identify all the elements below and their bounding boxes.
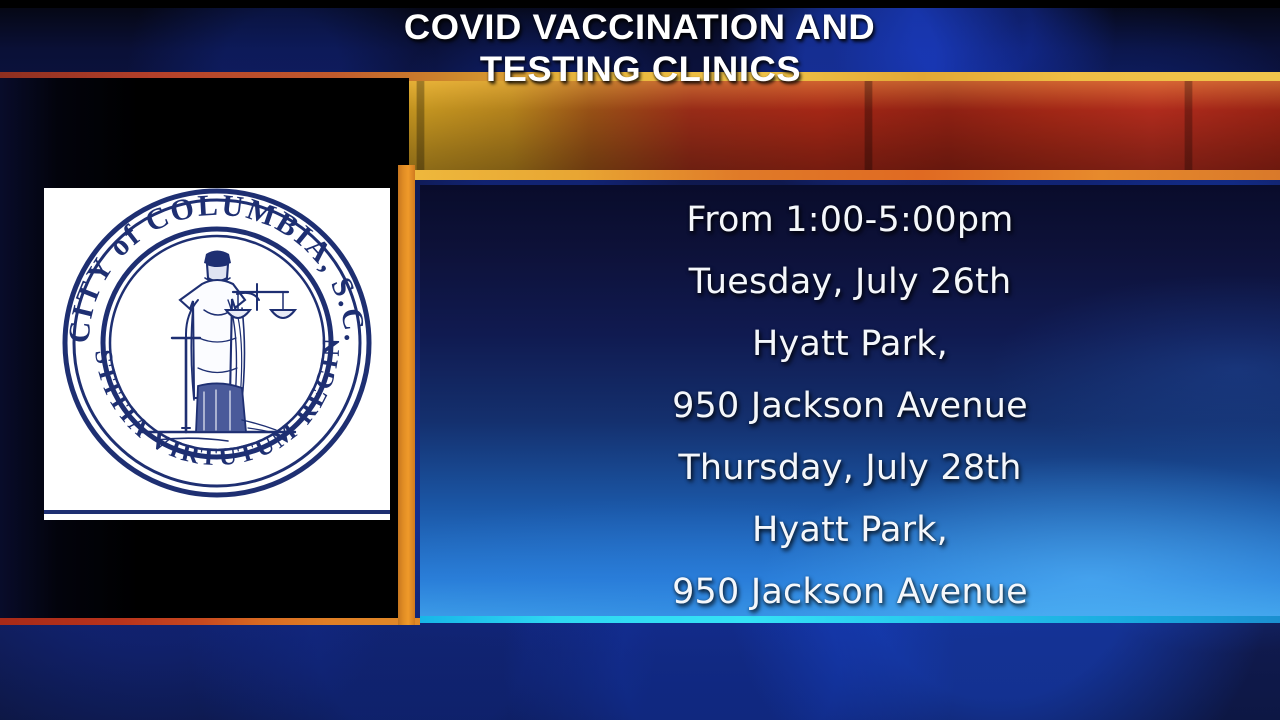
announcement-line: From 1:00-5:00pm bbox=[686, 189, 1013, 251]
logo-panel-vertical-accent bbox=[398, 165, 415, 625]
seal-underline bbox=[44, 510, 390, 514]
banner-title-line-1: COVID VACCINATION AND bbox=[404, 7, 875, 49]
city-of-columbia-seal: CITY of COLUMBIA, S.C. JUSTITIA VIRTUTUM… bbox=[44, 188, 390, 520]
banner-title-line-2: TESTING CLINICS bbox=[479, 49, 800, 91]
announcement-line: 950 Jackson Avenue bbox=[672, 561, 1028, 623]
announcement-line: Hyatt Park, bbox=[752, 313, 948, 375]
announcement-panel: From 1:00-5:00pm Tuesday, July 26th Hyat… bbox=[420, 185, 1280, 623]
broadcast-graphic: COVID VACCINATION AND TESTING CLINICS CI… bbox=[0, 0, 1280, 720]
announcement-line: Hyatt Park, bbox=[752, 499, 948, 561]
announcement-line: 950 Jackson Avenue bbox=[672, 375, 1028, 437]
announcement-line: Thursday, July 28th bbox=[678, 437, 1021, 499]
logo-panel-bottom-accent bbox=[0, 618, 420, 625]
city-seal-icon: CITY of COLUMBIA, S.C. JUSTITIA VIRTUTUM… bbox=[52, 188, 382, 506]
announcement-line: Tuesday, July 26th bbox=[689, 251, 1012, 313]
announcement-lines: From 1:00-5:00pm Tuesday, July 26th Hyat… bbox=[420, 185, 1280, 623]
